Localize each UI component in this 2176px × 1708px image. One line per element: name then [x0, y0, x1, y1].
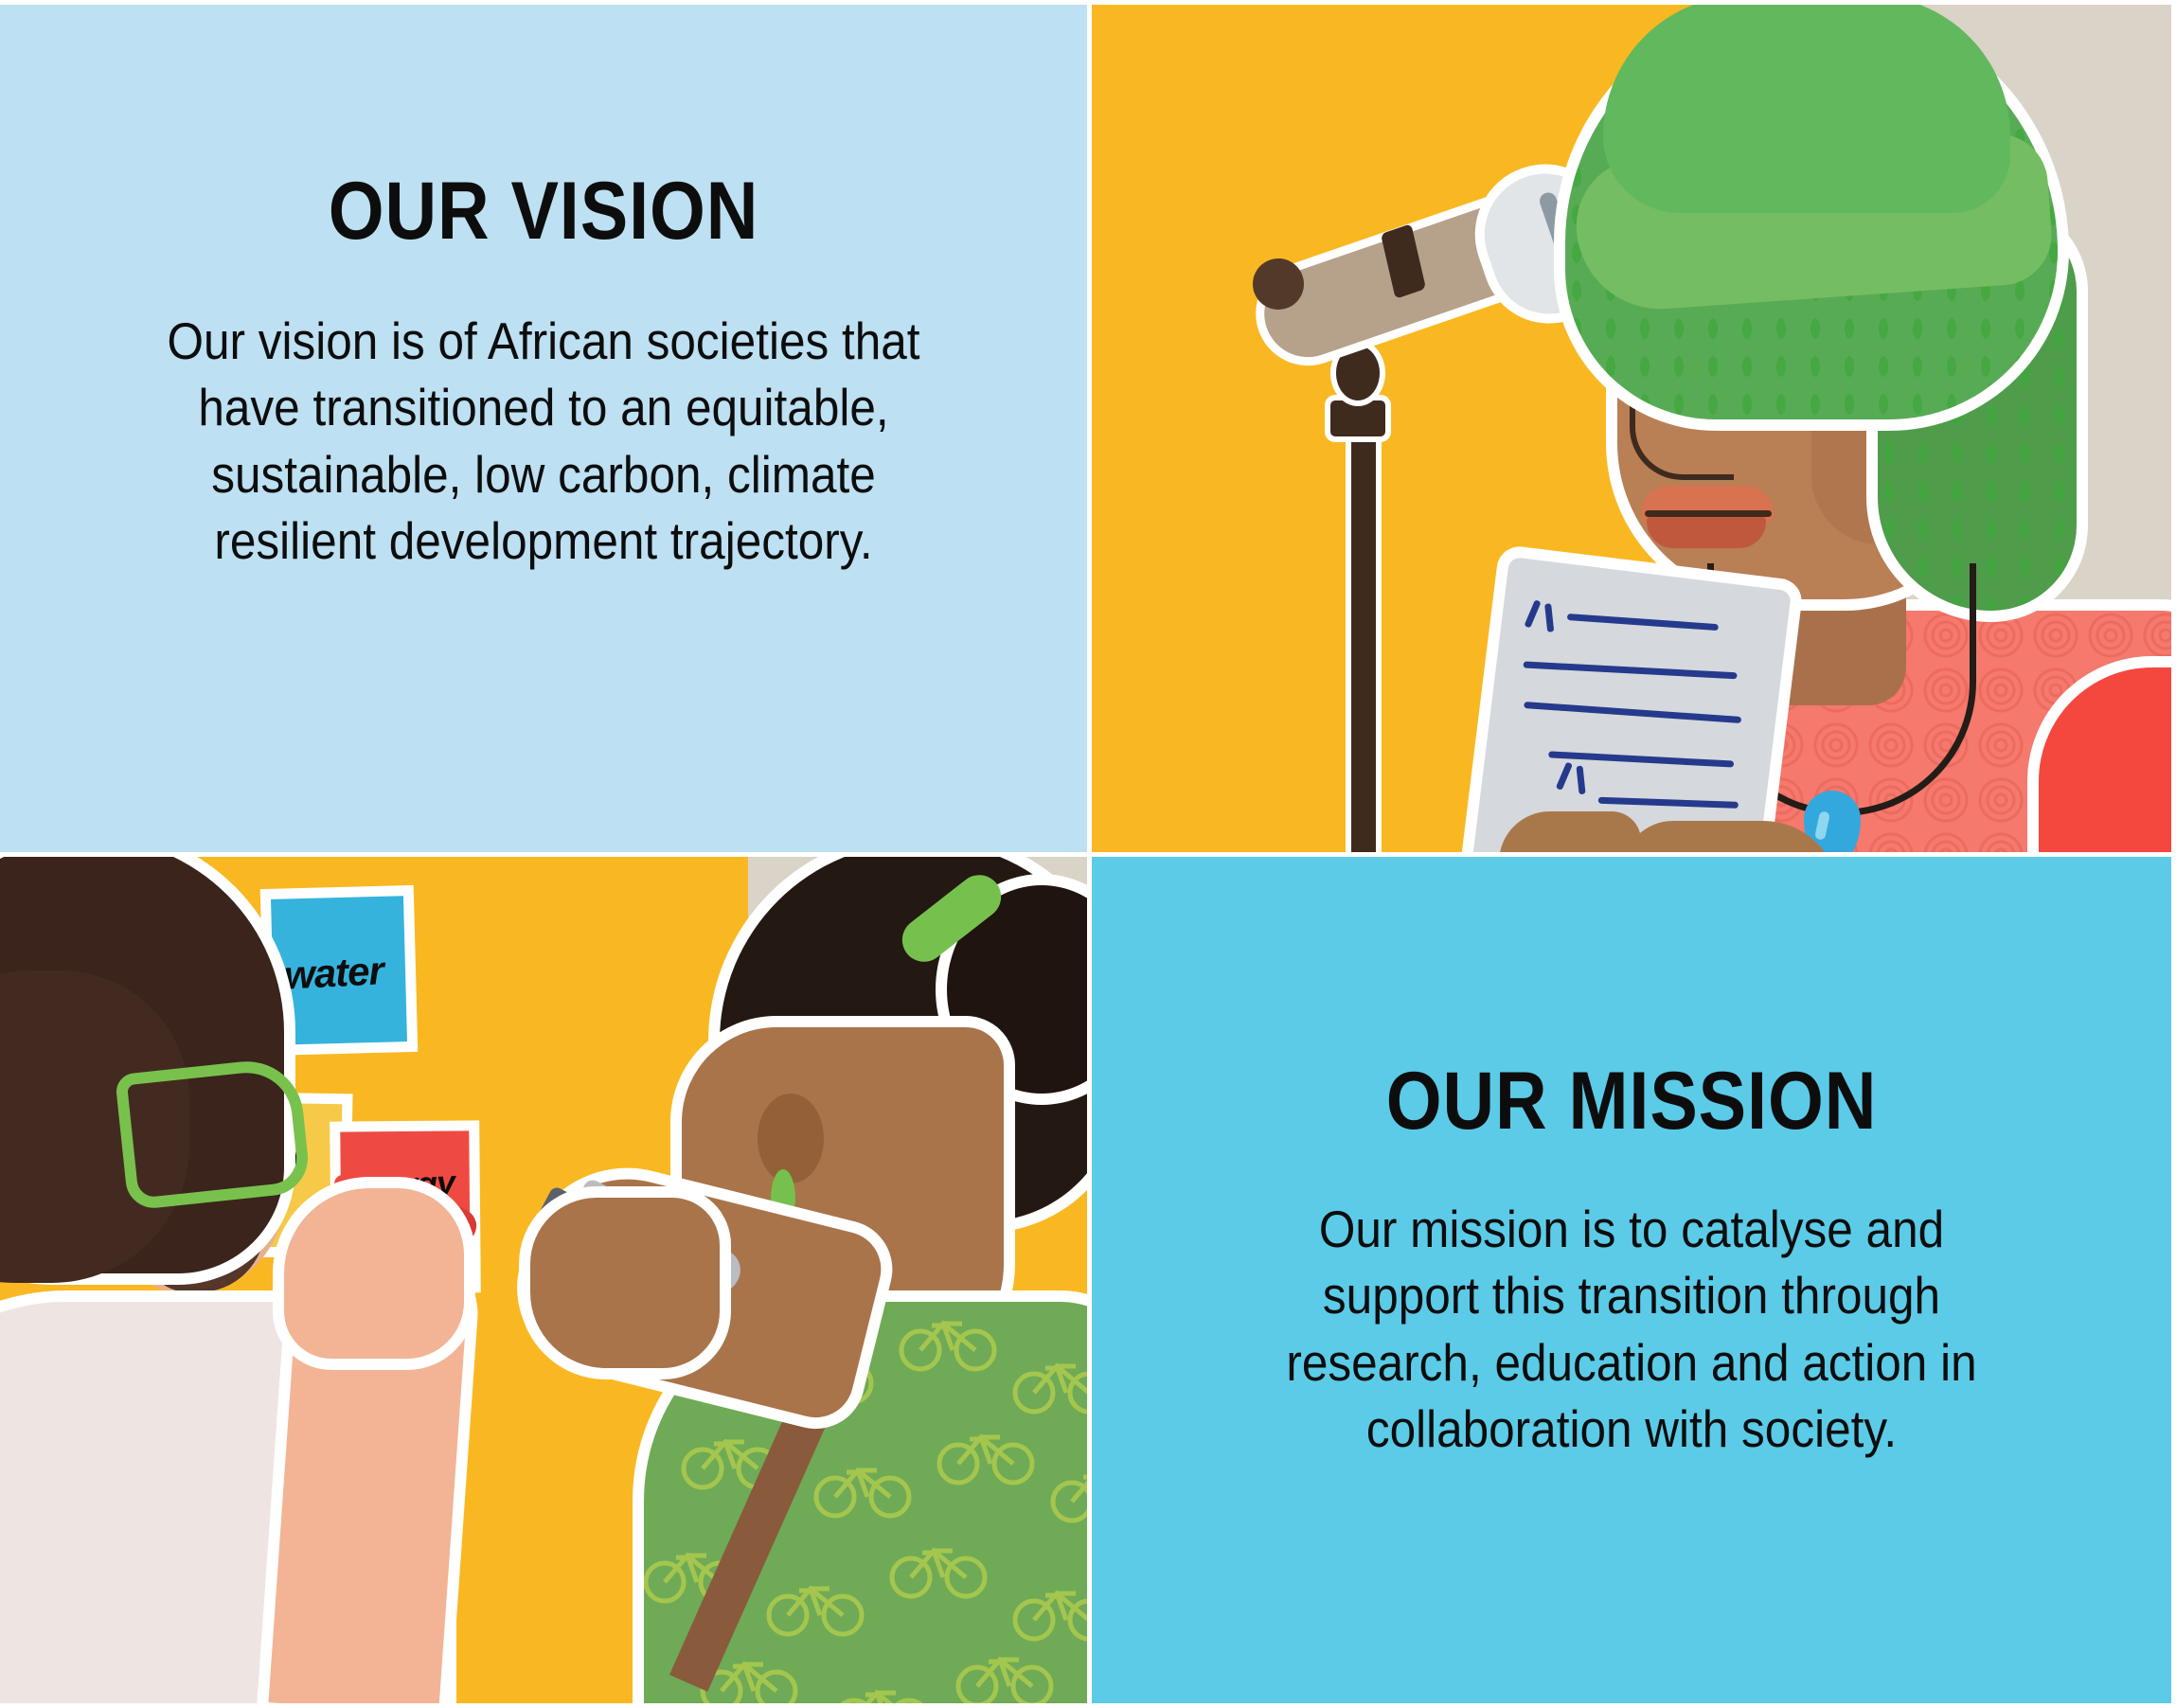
- microphone-stand-joint: [1336, 346, 1380, 400]
- workshop-illustration: water food energy: [0, 857, 1087, 1703]
- mission-body-text: Our mission is to catalyse and support t…: [1146, 1196, 2117, 1463]
- speaker-illustration: [1092, 5, 2171, 852]
- person-right-ear: [758, 1094, 824, 1183]
- person-left-hand: [284, 1188, 464, 1359]
- notes-scribble-1: [1526, 599, 1573, 631]
- microphone-stand-collar: [1330, 400, 1385, 436]
- vision-text-panel: OUR VISION Our vision is of African soci…: [0, 5, 1087, 852]
- microphone-stand-pole: [1346, 402, 1382, 852]
- notes-line-5: [1598, 797, 1739, 809]
- notes-line-2: [1524, 661, 1738, 679]
- speech-notes-paper: [1471, 557, 1792, 852]
- sticky-note-water-label: water: [283, 946, 418, 998]
- notes-line-3: [1524, 702, 1741, 723]
- mission-body-wrap: Our mission is to catalyse and support t…: [1092, 1196, 2171, 1463]
- vision-body-wrap: Our vision is of African societies that …: [0, 308, 1087, 575]
- vision-body-text: Our vision is of African societies that …: [54, 308, 1032, 575]
- notes-scribble-2: [1558, 761, 1604, 792]
- person-left-glasses: [115, 1056, 312, 1210]
- speaker-lower-lip: [1647, 516, 1766, 548]
- vision-heading: OUR VISION: [65, 170, 1022, 252]
- mission-text-panel: OUR MISSION Our mission is to catalyse a…: [1092, 857, 2171, 1703]
- speaker-mouth-line: [1645, 510, 1772, 517]
- head-wrap-crown: [1603, 5, 2010, 213]
- person-right-hand: [530, 1198, 720, 1368]
- vision-mission-poster: OUR VISION Our vision is of African soci…: [0, 0, 2176, 1708]
- mission-heading-wrap: OUR MISSION: [1092, 1060, 2171, 1142]
- vision-heading-wrap: OUR VISION: [0, 170, 1087, 252]
- notes-line-1: [1567, 614, 1719, 631]
- mission-heading: OUR MISSION: [1156, 1060, 2106, 1142]
